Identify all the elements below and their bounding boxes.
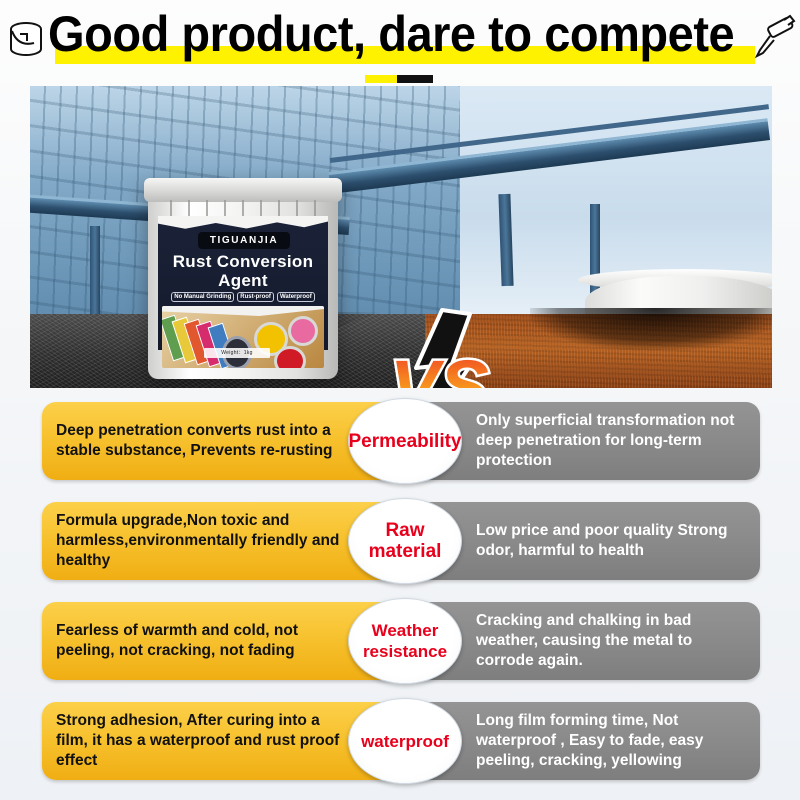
product-name-line1: Rust Conversion xyxy=(160,252,326,271)
product-badge: No Manual Grinding xyxy=(171,292,234,302)
label-photo-strip xyxy=(162,306,324,368)
paint-bucket-icon xyxy=(4,16,48,62)
label-photo-top-wave xyxy=(162,306,324,316)
product-name: Rust Conversion Agent xyxy=(160,252,326,290)
comparison-label-text: Weather resistance xyxy=(349,620,461,662)
page-title: Good product, dare to compete xyxy=(48,2,715,66)
hero-banner: 1kg TIGUANJIA Rust Conversion Agent No M… xyxy=(30,86,772,388)
comparison-label-text: Permeability xyxy=(349,431,462,452)
svg-text:VS: VS xyxy=(390,345,489,388)
title-divider xyxy=(365,75,433,83)
comparison-label-badge: Weather resistance xyxy=(348,598,462,684)
comparison-table: Deep penetration converts rust into a st… xyxy=(0,390,800,790)
comparison-row: Deep penetration converts rust into a st… xyxy=(0,390,800,490)
comparison-row: Fearless of warmth and cold, not peeling… xyxy=(0,590,800,690)
support-pillar xyxy=(90,226,100,328)
comparison-label-text: Raw material xyxy=(349,520,461,562)
tank-shadow xyxy=(530,308,772,350)
comparison-label-badge: waterproof xyxy=(348,698,462,784)
product-badge: Rust-proof xyxy=(237,292,274,302)
divider-yellow-segment xyxy=(365,75,397,83)
product-weight: Weight：1kg xyxy=(204,348,270,358)
divider-black-segment xyxy=(397,75,433,83)
bucket-rim-ticks xyxy=(154,200,332,216)
comparison-label-text: waterproof xyxy=(361,731,449,752)
product-brand: TIGUANJIA xyxy=(198,232,290,249)
product-feature-badges: No Manual Grinding Rust-proof Waterproof xyxy=(160,292,326,302)
comparison-row: Strong adhesion, After curing into a fil… xyxy=(0,690,800,790)
comparison-label-badge: Raw material xyxy=(348,498,462,584)
vs-badge: VS xyxy=(382,308,502,388)
comparison-label-badge: Permeability xyxy=(348,398,462,484)
product-bucket: 1kg TIGUANJIA Rust Conversion Agent No M… xyxy=(148,174,338,379)
bucket-lid xyxy=(144,178,342,202)
comparison-row: Formula upgrade,Non toxic and harmless,e… xyxy=(0,490,800,590)
product-badge: Waterproof xyxy=(277,292,315,302)
page-header: Good product, dare to compete xyxy=(0,0,800,82)
product-name-line2: Agent xyxy=(160,271,326,290)
paint-roller-icon xyxy=(754,14,800,62)
